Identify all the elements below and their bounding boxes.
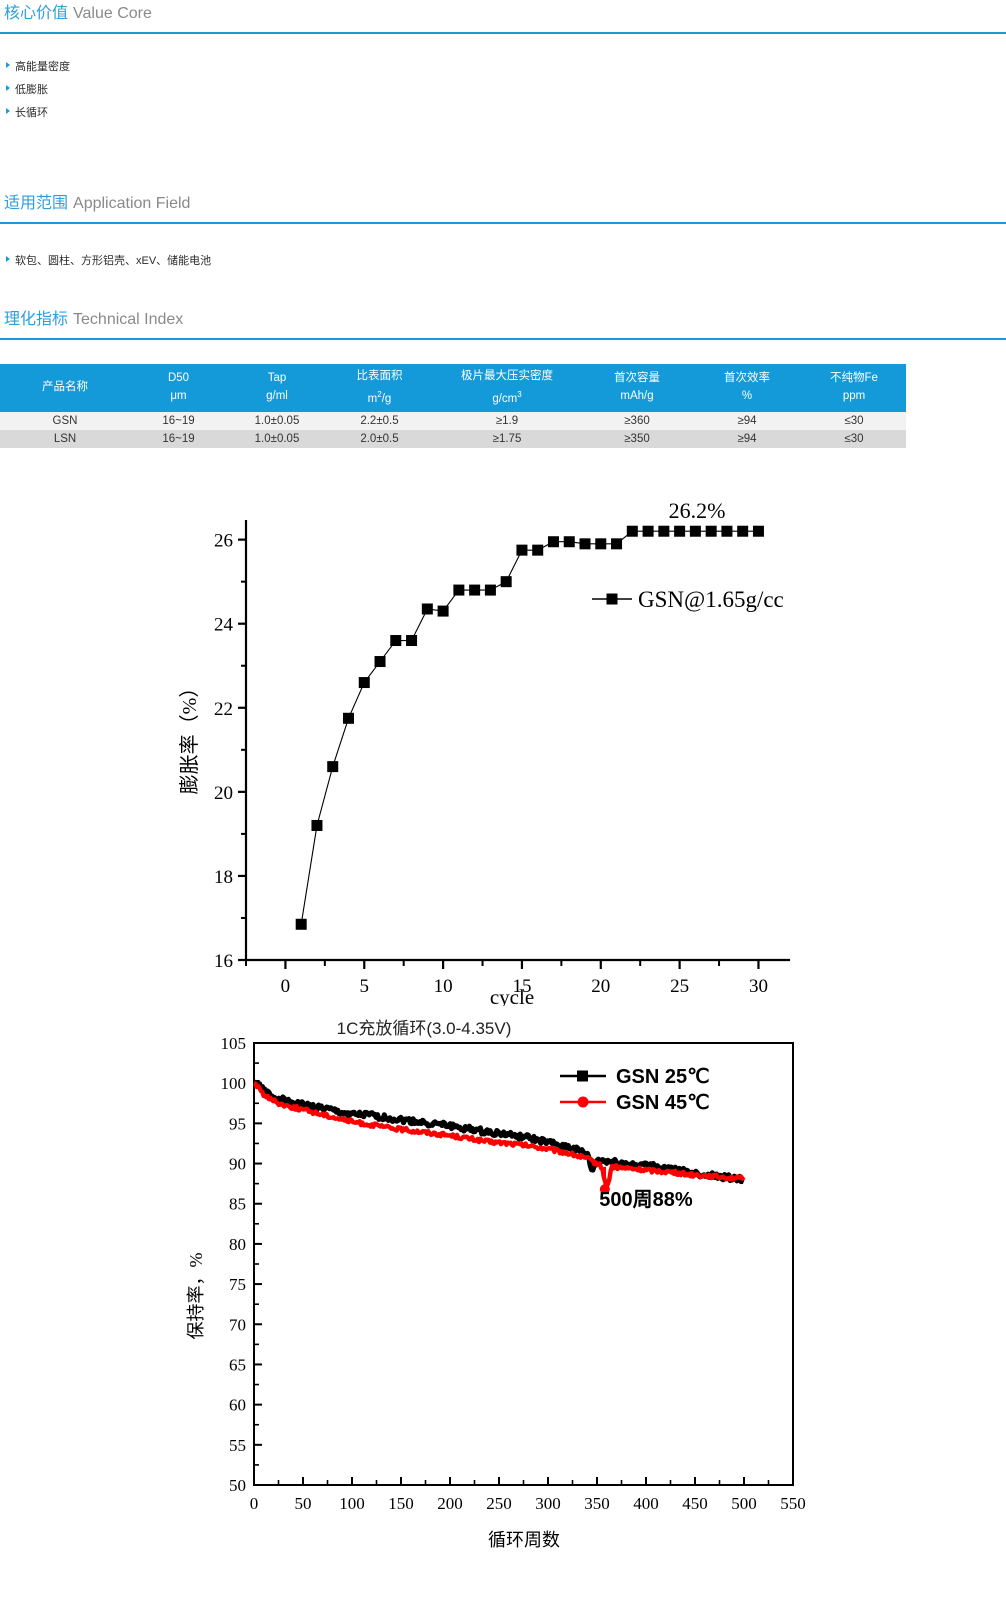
cell: LSN <box>0 430 130 448</box>
x-tick-label: 5 <box>360 976 370 997</box>
y-tick-label: 75 <box>229 1275 246 1294</box>
col-first-capacity: 首次容量 mAh/g <box>582 364 692 412</box>
col-title: Tap <box>268 372 287 384</box>
cell: 16~19 <box>130 430 227 448</box>
x-tick-label: 350 <box>584 1494 610 1513</box>
legend-label-45c: GSN 45℃ <box>616 1092 710 1114</box>
y-tick-label: 100 <box>221 1074 247 1093</box>
data-point <box>296 919 307 930</box>
legend-marker <box>577 1071 588 1082</box>
y-tick-label: 22 <box>214 699 233 720</box>
col-product-name: 产品名称 <box>0 364 130 412</box>
triangle-bullet-icon <box>6 108 10 114</box>
x-tick-label: 100 <box>339 1494 365 1513</box>
data-point <box>406 635 417 646</box>
x-axis-title: 循环周数 <box>488 1530 560 1550</box>
table-row: GSN 16~19 1.0±0.05 2.2±0.5 ≥1.9 ≥360 ≥94… <box>0 412 906 430</box>
y-tick-label: 16 <box>214 951 233 972</box>
data-point <box>469 585 480 596</box>
col-unit: μm <box>132 388 225 405</box>
technical-index-table-wrapper: 产品名称 D50 μm Tap g/ml 比表面积 m2/g <box>0 364 906 448</box>
col-unit: m2/g <box>329 386 430 408</box>
col-max-compaction-density: 极片最大压实密度 g/cm3 <box>432 364 582 412</box>
cell: ≥1.9 <box>432 412 582 430</box>
x-tick-label: 250 <box>486 1494 512 1513</box>
y-tick-label: 26 <box>214 531 233 552</box>
list-item-label: 高能量密度 <box>15 61 70 73</box>
list-item: 长循环 <box>6 102 1006 125</box>
col-title: 不纯物Fe <box>830 372 878 384</box>
x-tick-label: 50 <box>295 1494 312 1513</box>
x-tick-label: 0 <box>281 976 291 997</box>
section-heading-cn: 理化指标 <box>4 311 68 328</box>
x-tick-label: 10 <box>434 976 453 997</box>
table-header-row: 产品名称 D50 μm Tap g/ml 比表面积 m2/g <box>0 364 906 412</box>
cell: 2.2±0.5 <box>327 412 432 430</box>
swelling-rate-chart-svg: 16182022242605101520253026.2%GSN@1.65g/c… <box>0 486 1006 1006</box>
data-point <box>516 545 527 556</box>
legend-label-25c: GSN 25℃ <box>616 1066 710 1088</box>
section-heading-application-field: 适用范围Application Field <box>0 194 1006 220</box>
triangle-bullet-icon <box>6 62 10 68</box>
col-first-efficiency: 首次效率 % <box>692 364 802 412</box>
x-tick-label: 30 <box>749 976 768 997</box>
data-point <box>737 526 748 537</box>
col-d50: D50 μm <box>130 364 227 412</box>
y-axis-title: 膨胀率（%） <box>178 678 201 795</box>
col-title: 产品名称 <box>42 381 88 393</box>
x-tick-label: 25 <box>670 976 689 997</box>
y-tick-label: 70 <box>229 1315 246 1334</box>
x-tick-label: 300 <box>535 1494 561 1513</box>
list-item: 低膨胀 <box>6 79 1006 102</box>
y-tick-label: 90 <box>229 1155 246 1174</box>
col-unit: ppm <box>804 388 904 405</box>
list-item-label: 软包、圆柱、方形铝壳、xEV、储能电池 <box>15 255 211 267</box>
x-tick-label: 450 <box>682 1494 708 1513</box>
y-tick-label: 80 <box>229 1235 246 1254</box>
section-divider <box>0 222 1006 224</box>
x-tick-label: 500 <box>731 1494 757 1513</box>
x-axis-title: cycle <box>490 985 534 1006</box>
section-divider <box>0 32 1006 34</box>
data-point <box>721 526 732 537</box>
section-heading-technical-index: 理化指标Technical Index <box>0 310 1006 336</box>
x-tick-label: 150 <box>388 1494 414 1513</box>
data-point <box>390 635 401 646</box>
cell: 1.0±0.05 <box>227 412 327 430</box>
technical-index-table: 产品名称 D50 μm Tap g/ml 比表面积 m2/g <box>0 364 906 448</box>
y-tick-label: 55 <box>229 1436 246 1455</box>
col-title: 首次容量 <box>614 372 660 384</box>
application-field-bullet-list: 软包、圆柱、方形铝壳、xEV、储能电池 <box>0 250 1006 273</box>
list-item-label: 低膨胀 <box>15 84 48 96</box>
data-point <box>674 526 685 537</box>
col-title: 极片最大压实密度 <box>461 370 553 382</box>
col-title: D50 <box>168 372 189 384</box>
data-point <box>611 538 622 549</box>
data-point <box>359 677 370 688</box>
data-point <box>706 526 717 537</box>
data-point <box>343 713 354 724</box>
swelling-rate-chart: 16182022242605101520253026.2%GSN@1.65g/c… <box>0 486 1006 1006</box>
data-point <box>532 545 543 556</box>
section-heading-value-core: 核心价值Value Core <box>0 4 1006 30</box>
data-point <box>438 606 449 617</box>
data-point <box>375 656 386 667</box>
data-point <box>753 526 764 537</box>
list-item-label: 长循环 <box>15 107 48 119</box>
legend-label-gsn: GSN@1.65g/cc <box>638 587 784 612</box>
y-tick-label: 105 <box>221 1034 247 1053</box>
legend-marker <box>578 1097 589 1108</box>
list-item: 软包、圆柱、方形铝壳、xEV、储能电池 <box>6 250 1006 273</box>
x-tick-label: 20 <box>591 976 610 997</box>
col-specific-surface-area: 比表面积 m2/g <box>327 364 432 412</box>
triangle-bullet-icon <box>6 85 10 91</box>
cell: 2.0±0.5 <box>327 430 432 448</box>
annotation-retention: 500周88% <box>599 1189 693 1211</box>
y-axis-title: 保持率，% <box>186 1253 206 1340</box>
data-point <box>548 536 559 547</box>
data-point <box>422 603 433 614</box>
data-point <box>658 526 669 537</box>
section-application-field: 适用范围Application Field 软包、圆柱、方形铝壳、xEV、储能电… <box>0 194 1006 273</box>
section-heading-cn: 适用范围 <box>4 195 68 212</box>
product-datasheet-page: 核心价值Value Core 高能量密度 低膨胀 长循环 适用范围Applica… <box>0 0 1006 1619</box>
section-technical-index: 理化指标Technical Index <box>0 310 1006 340</box>
data-point <box>453 585 464 596</box>
y-tick-label: 20 <box>214 783 233 804</box>
cell: ≥350 <box>582 430 692 448</box>
data-point <box>311 820 322 831</box>
annotation-peak-value: 26.2% <box>669 498 726 523</box>
section-value-core: 核心价值Value Core 高能量密度 低膨胀 长循环 <box>0 4 1006 125</box>
section-heading-cn: 核心价值 <box>4 5 68 22</box>
col-unit: g/ml <box>229 388 325 405</box>
table-row: LSN 16~19 1.0±0.05 2.0±0.5 ≥1.75 ≥350 ≥9… <box>0 430 906 448</box>
y-tick-label: 60 <box>229 1396 246 1415</box>
legend-marker <box>607 594 618 605</box>
x-tick-label: 400 <box>633 1494 659 1513</box>
x-tick-label: 200 <box>437 1494 463 1513</box>
section-heading-en: Technical Index <box>73 311 183 328</box>
y-tick-label: 95 <box>229 1114 246 1133</box>
x-tick-label: 0 <box>250 1494 259 1513</box>
data-point <box>327 761 338 772</box>
value-core-bullet-list: 高能量密度 低膨胀 长循环 <box>0 56 1006 125</box>
y-tick-label: 65 <box>229 1355 246 1374</box>
col-tap: Tap g/ml <box>227 364 327 412</box>
triangle-bullet-icon <box>6 256 10 262</box>
col-unit: g/cm3 <box>434 386 580 408</box>
section-heading-en: Application Field <box>73 195 190 212</box>
data-point <box>627 526 638 537</box>
data-point <box>580 538 591 549</box>
cell: 1.0±0.05 <box>227 430 327 448</box>
x-tick-label: 550 <box>780 1494 806 1513</box>
y-tick-label: 24 <box>214 615 234 636</box>
col-title: 比表面积 <box>357 370 403 382</box>
y-tick-label: 85 <box>229 1195 246 1214</box>
data-point <box>595 538 606 549</box>
data-point <box>485 585 496 596</box>
col-unit: mAh/g <box>584 388 690 405</box>
data-point <box>564 536 575 547</box>
cell: 16~19 <box>130 412 227 430</box>
y-tick-label: 18 <box>214 867 233 888</box>
cell: ≥94 <box>692 430 802 448</box>
capacity-retention-chart: 1C充放循环(3.0-4.35V)50556065707580859095100… <box>0 1006 1006 1619</box>
cell: ≥94 <box>692 412 802 430</box>
col-title: 首次效率 <box>724 372 770 384</box>
cell: ≥1.75 <box>432 430 582 448</box>
data-point <box>690 526 701 537</box>
chart-title: 1C充放循环(3.0-4.35V) <box>337 1019 512 1038</box>
list-item: 高能量密度 <box>6 56 1006 79</box>
cell: ≥360 <box>582 412 692 430</box>
capacity-retention-chart-svg: 1C充放循环(3.0-4.35V)50556065707580859095100… <box>0 1006 1006 1619</box>
section-divider <box>0 338 1006 340</box>
col-impurity-fe: 不纯物Fe ppm <box>802 364 906 412</box>
col-unit: % <box>694 388 800 405</box>
data-point <box>643 526 654 537</box>
y-tick-label: 50 <box>229 1476 246 1495</box>
section-heading-en: Value Core <box>73 5 152 22</box>
cell: ≤30 <box>802 430 906 448</box>
cell: ≤30 <box>802 412 906 430</box>
data-point <box>501 576 512 587</box>
cell: GSN <box>0 412 130 430</box>
